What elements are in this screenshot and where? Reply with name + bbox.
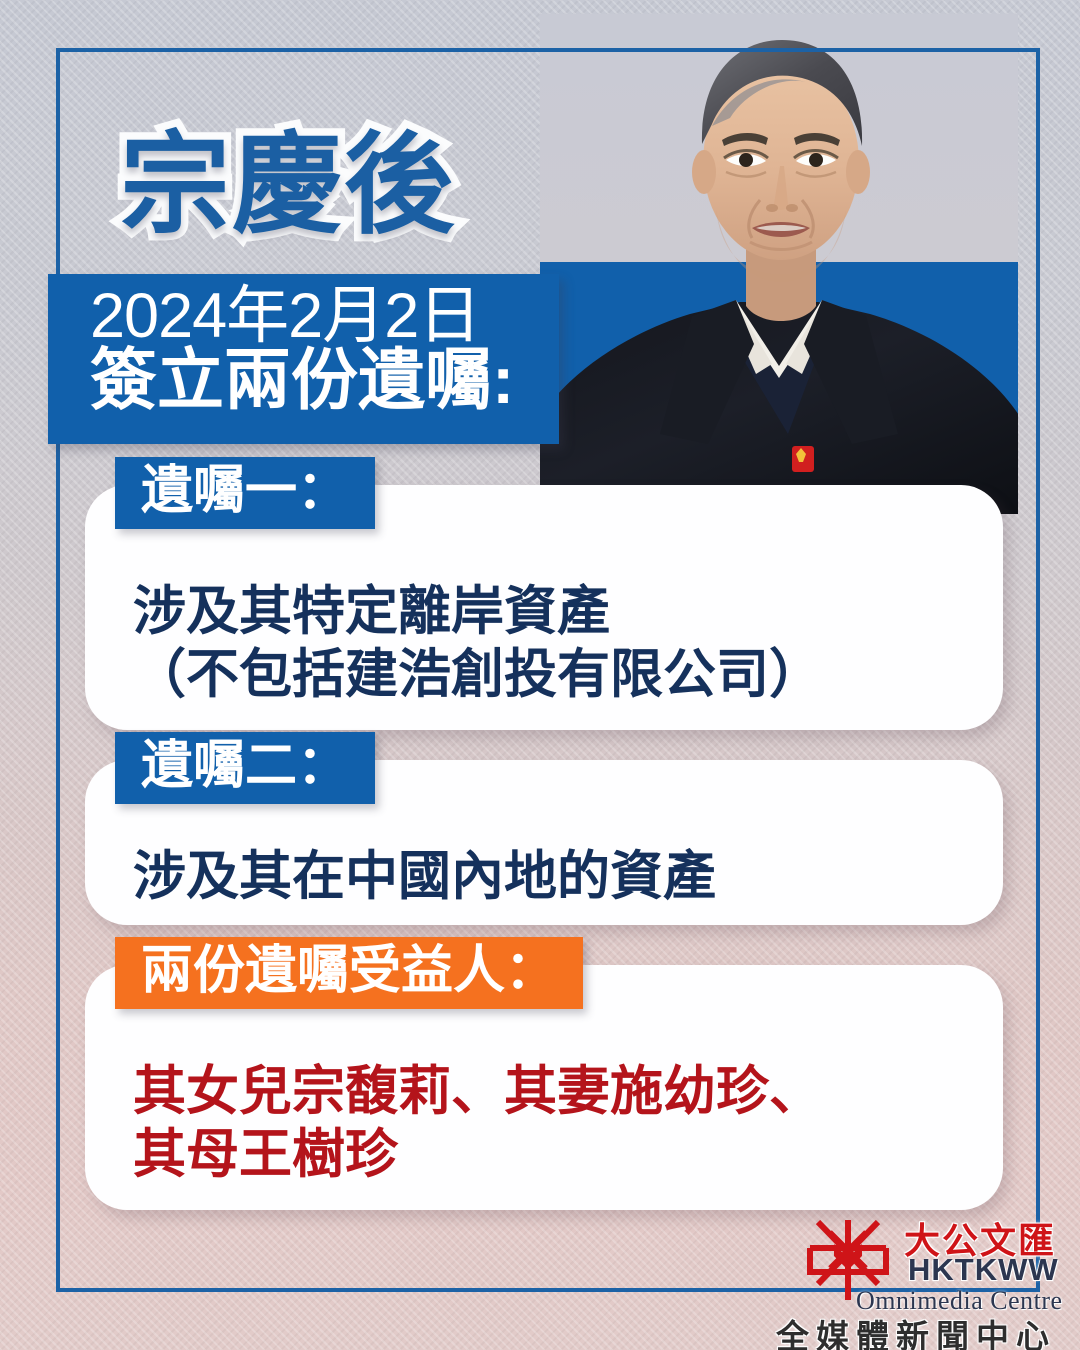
portrait-photo [540,14,1018,514]
infographic-poster: 宗慶後 2024年2月2日 簽立兩份遺囑: 遺囑一： 涉及其特定離岸資產 （不包… [0,0,1080,1350]
beneficiaries-body: 其女兒宗馥莉、其妻施幼珍、 其母王樹珍 [133,1061,975,1186]
beneficiaries-tag: 兩份遺囑受益人： [115,937,583,1009]
beneficiaries-card: 兩份遺囑受益人： 其女兒宗馥莉、其妻施幼珍、 其母王樹珍 [85,965,1003,1210]
banner-date-line: 2024年2月2日 [90,284,559,348]
publisher-logo: 大公文匯 HKTKWW Omnimedia Centre 全媒體新聞中心 [800,1212,1062,1340]
lapel-pin-icon [792,446,814,472]
logo-abbreviation: HKTKWW [908,1252,1059,1288]
date-banner: 2024年2月2日 簽立兩份遺囑: [48,274,559,444]
banner-action-line: 簽立兩份遺囑: [90,346,559,416]
will-two-body: 涉及其在中國內地的資產 [133,846,975,909]
portrait-illustration [540,14,1018,514]
will-one-tag: 遺囑一： [115,457,375,529]
will-two-tag: 遺囑二： [115,732,375,804]
will-two-card: 遺囑二： 涉及其在中國內地的資產 [85,760,1003,925]
will-one-card: 遺囑一： 涉及其特定離岸資產 （不包括建浩創投有限公司） [85,485,1003,730]
will-one-body: 涉及其特定離岸資產 （不包括建浩創投有限公司） [133,581,975,706]
page-title: 宗慶後 [120,131,456,241]
logo-chinese-tagline: 全媒體新聞中心 [776,1310,1056,1350]
